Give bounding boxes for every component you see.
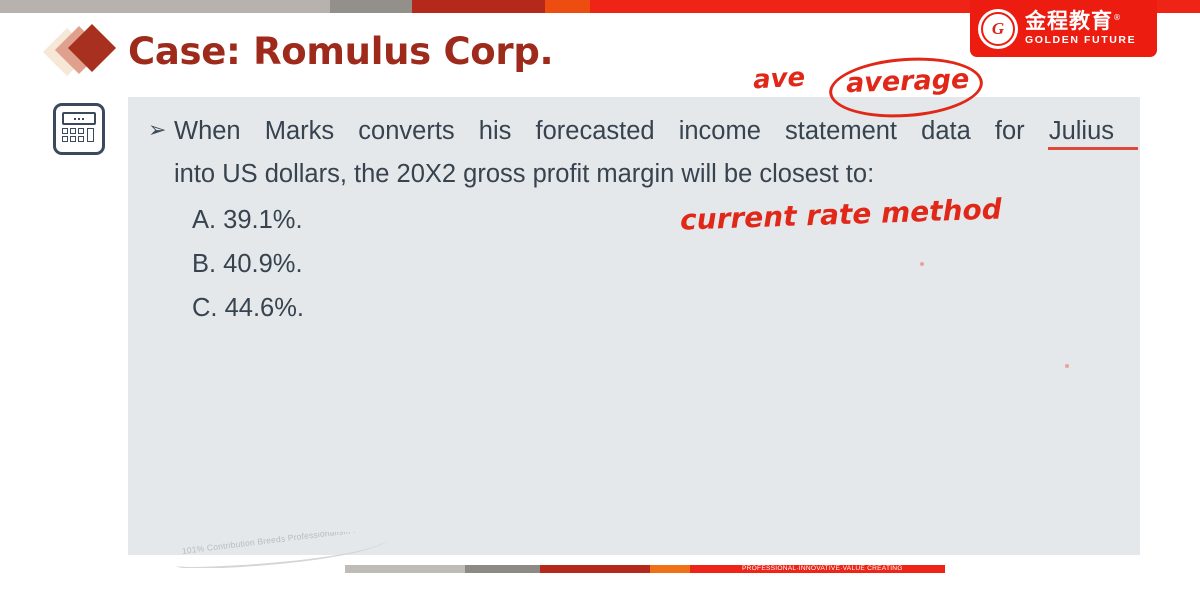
topbar-segment-4 bbox=[545, 0, 590, 13]
brand-name-cn-text: 金程教育 bbox=[1025, 9, 1113, 33]
ink-dot-artifact bbox=[920, 262, 924, 266]
calculator-key bbox=[78, 128, 84, 134]
brand-seal-icon: G bbox=[978, 9, 1018, 49]
answer-option-b[interactable]: B. 40.9%. bbox=[192, 242, 304, 286]
julius-red-underline bbox=[1048, 147, 1138, 150]
slide-title-row: Case: Romulus Corp. bbox=[48, 22, 553, 80]
footer-watermark: 101% Contribution Breeds Professionalism… bbox=[176, 532, 391, 568]
arrow-bullet-icon: ➢ bbox=[148, 110, 174, 152]
calculator-enter-key bbox=[87, 128, 94, 142]
footer-tagline: PROFESSIONAL·INNOVATIVE·VALUE CREATING bbox=[742, 563, 903, 574]
calculator-keypad bbox=[62, 128, 84, 142]
calculator-key bbox=[70, 128, 76, 134]
page-title: Case: Romulus Corp. bbox=[128, 30, 553, 73]
calculator-screen-dot bbox=[82, 118, 84, 120]
question-line-1: When Marks converts his forecasted incom… bbox=[174, 110, 1114, 153]
content-panel: ➢ When Marks converts his forecasted inc… bbox=[128, 97, 1140, 555]
question-row: ➢ When Marks converts his forecasted inc… bbox=[148, 110, 1118, 196]
topbar-segment-2 bbox=[330, 0, 412, 13]
bottombar-segment-1 bbox=[345, 565, 465, 573]
calculator-icon bbox=[53, 103, 105, 155]
topbar-segment-1 bbox=[0, 0, 330, 13]
annotation-ave: ave bbox=[752, 63, 806, 96]
slide-root: G 金程教育® GOLDEN FUTURE Case: Romulus Corp… bbox=[0, 0, 1200, 600]
bottombar-segment-3 bbox=[540, 565, 650, 573]
calculator-key bbox=[70, 136, 76, 142]
brand-logo: G 金程教育® GOLDEN FUTURE bbox=[970, 0, 1157, 57]
question-block: ➢ When Marks converts his forecasted inc… bbox=[148, 110, 1118, 196]
ink-dot-artifact bbox=[1065, 364, 1069, 368]
brand-seal-letter: G bbox=[992, 20, 1004, 37]
brand-name-en: GOLDEN FUTURE bbox=[1025, 35, 1136, 46]
diamond-logo-icon bbox=[48, 22, 122, 80]
brand-registered-mark: ® bbox=[1113, 13, 1122, 22]
answer-option-a[interactable]: A. 39.1%. bbox=[192, 198, 304, 242]
calculator-screen bbox=[62, 112, 96, 125]
calculator-key bbox=[62, 128, 68, 134]
question-text: When Marks converts his forecasted incom… bbox=[174, 110, 1114, 196]
question-line-2: into US dollars, the 20X2 gross profit m… bbox=[174, 160, 874, 188]
calculator-screen-dot bbox=[74, 118, 76, 120]
answer-options: A. 39.1%. B. 40.9%. C. 44.6%. bbox=[192, 198, 304, 330]
question-line-1-text: When Marks converts his forecasted incom… bbox=[174, 117, 1025, 145]
brand-wordmark: 金程教育® GOLDEN FUTURE bbox=[1025, 11, 1136, 46]
answer-option-c[interactable]: C. 44.6%. bbox=[192, 286, 304, 330]
bottombar-segment-2 bbox=[465, 565, 540, 573]
calculator-key bbox=[62, 136, 68, 142]
bottombar-segment-4 bbox=[650, 565, 690, 573]
calculator-key bbox=[78, 136, 84, 142]
calculator-screen-dot bbox=[78, 118, 80, 120]
calculator-keys bbox=[62, 128, 96, 142]
topbar-segment-3 bbox=[412, 0, 545, 13]
brand-name-cn: 金程教育® bbox=[1025, 11, 1122, 32]
question-highlight-julius: Julius bbox=[1049, 117, 1114, 145]
